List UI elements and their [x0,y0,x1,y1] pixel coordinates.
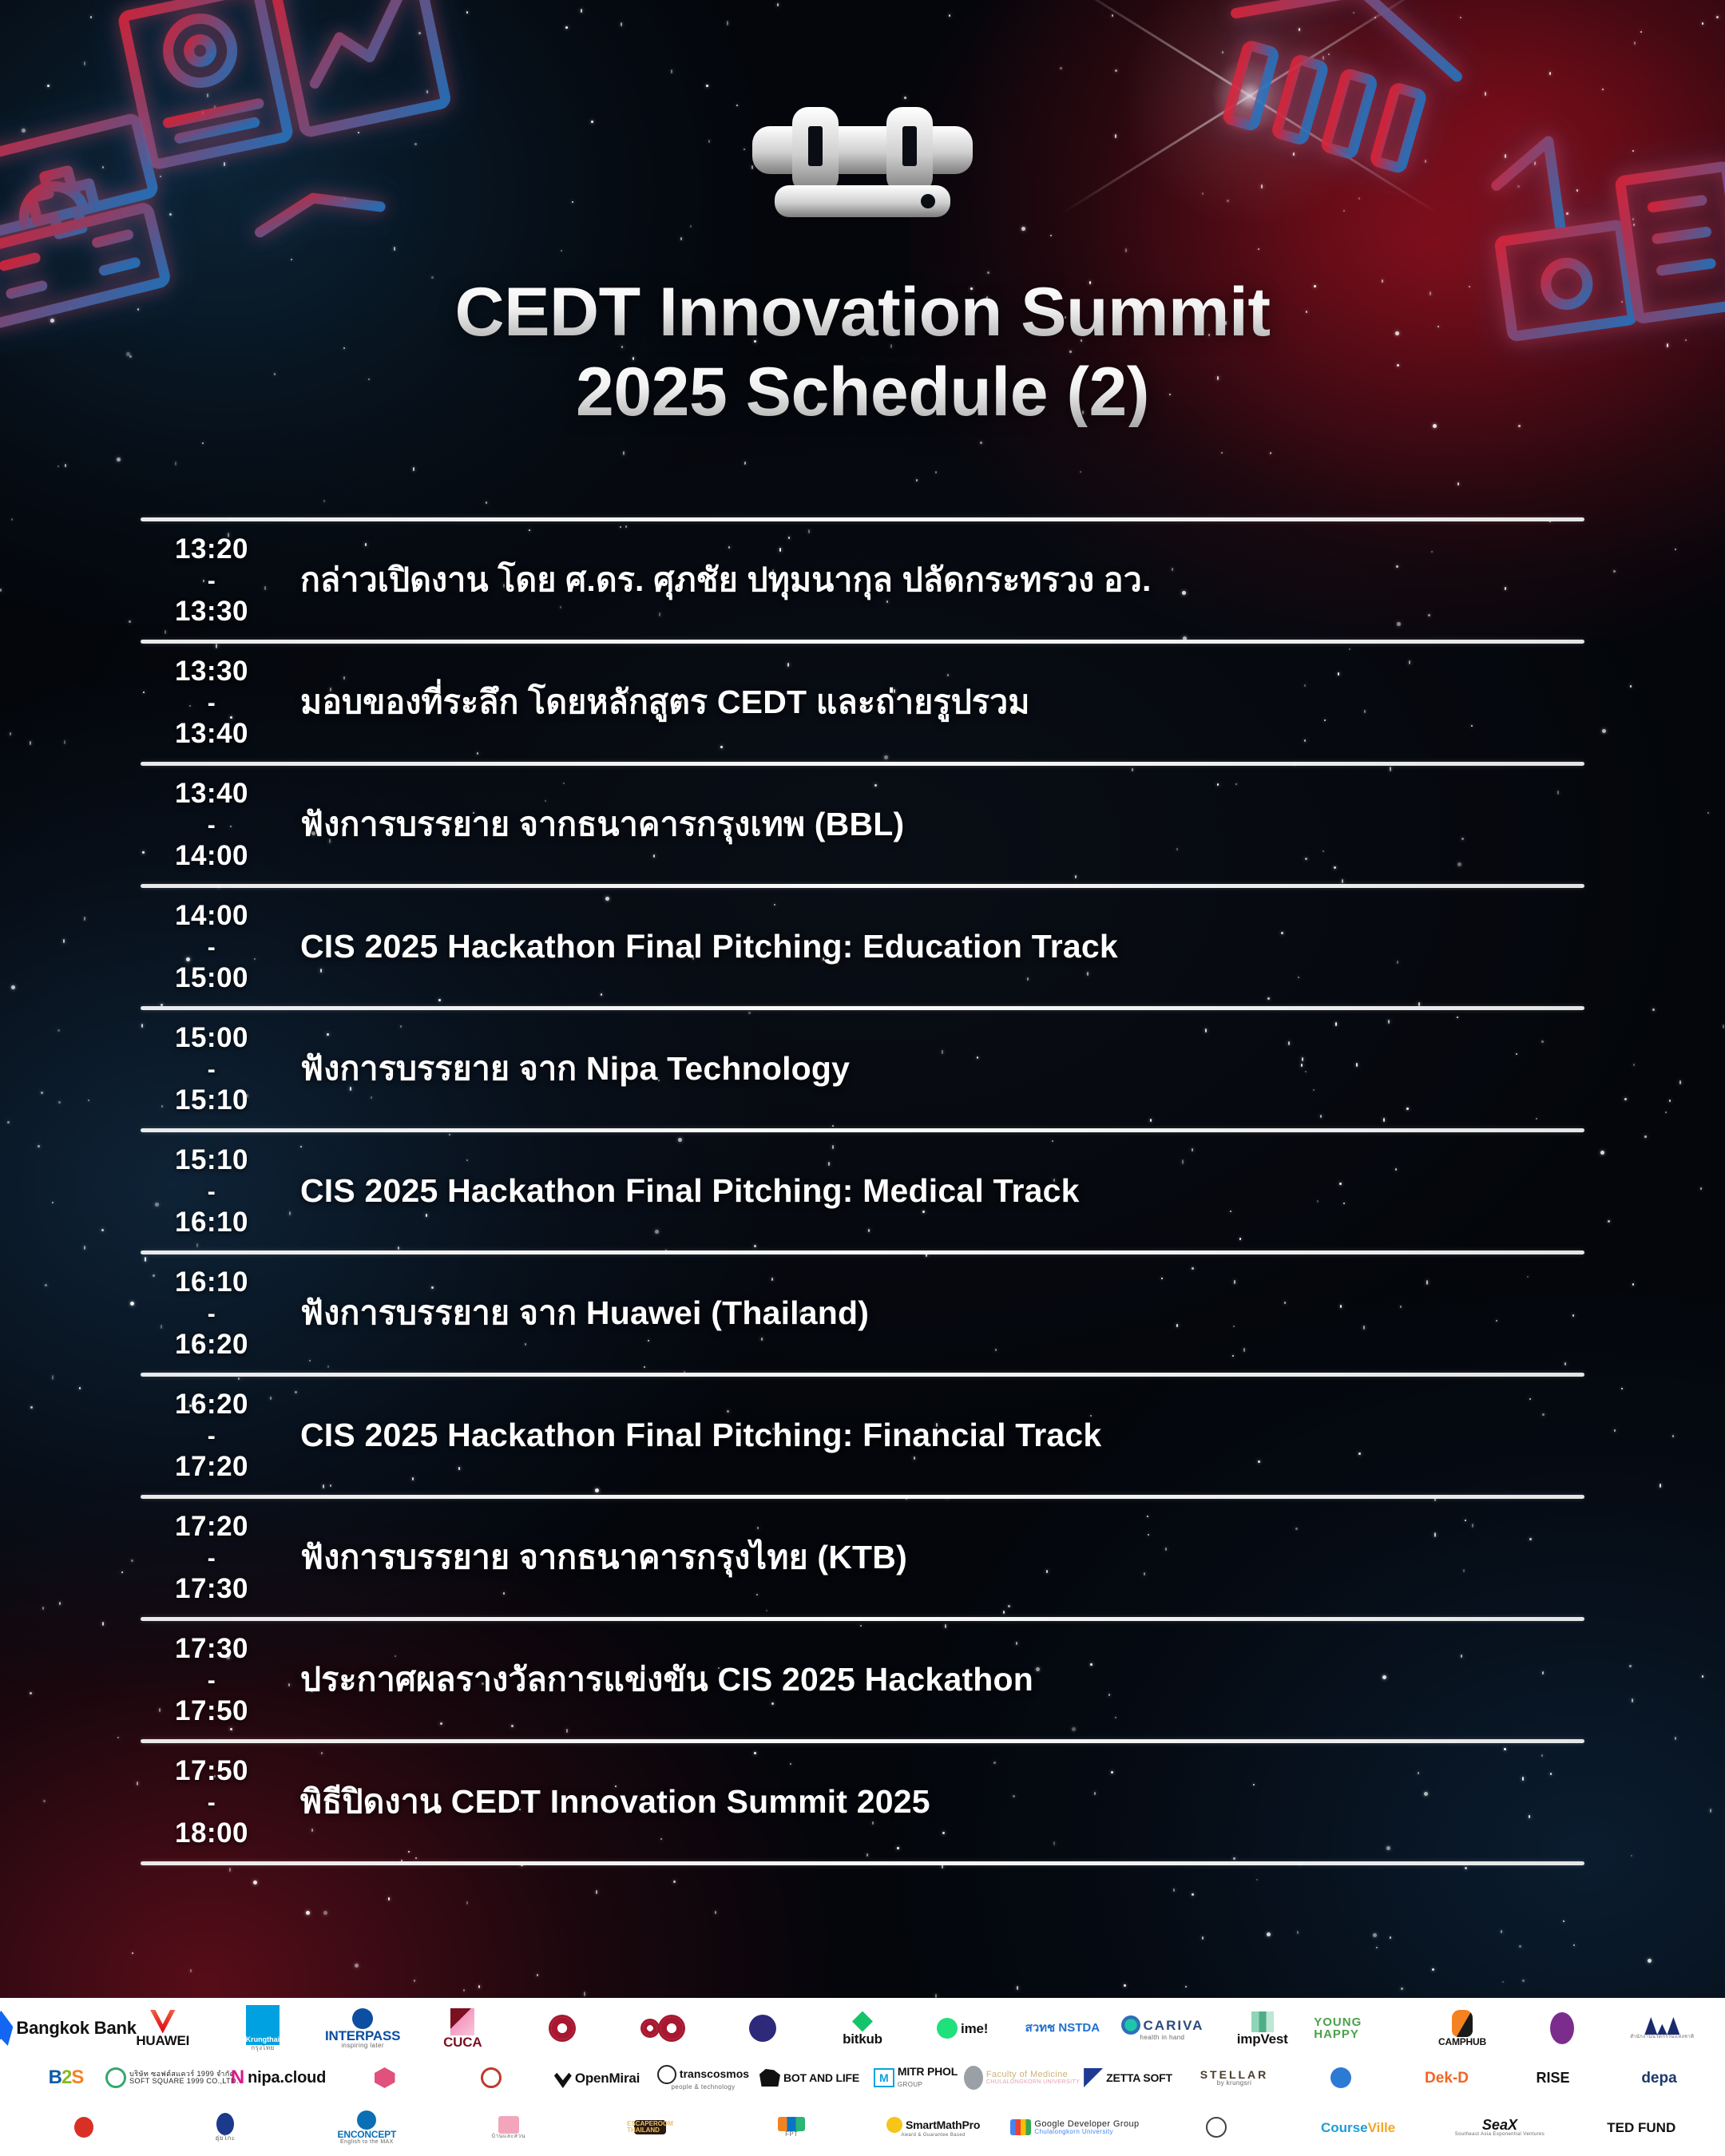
sponsor-bitkub: bitkub [814,2004,910,2052]
schedule-start-time: 14:00 [175,900,248,931]
schedule-time-dash: - [141,1301,283,1327]
tao-kae-noi-icon [74,2117,93,2138]
sponsor-smartmathpro: SmartMathPro Award & Guarantee Based [864,2103,1002,2151]
sponsor-ime: ime! [914,2004,1011,2052]
page-title: CEDT Innovation Summit 2025 Schedule (2) [0,278,1725,427]
schedule-time: 14:00-15:00 [141,898,283,997]
enconcept-icon [357,2110,376,2130]
schedule-time: 13:40-14:00 [141,776,283,874]
sponsor-bot-and-life: BOT AND LIFE [758,2054,861,2102]
sponsor-nstda: สวทช NSTDA [1014,2004,1111,2052]
schedule-start-time: 16:10 [175,1266,248,1298]
sponsor-dek-d: Dek-D [1395,2054,1498,2102]
schedule-row: 17:20-17:30ฟังการบรรยาย จากธนาคารกรุงไทย… [141,1499,1584,1617]
sponsor-hui-go: ฮุ่ยโกะ [156,2103,294,2151]
smartmathpro-icon [886,2117,902,2133]
bangkok-bank-flame-icon [0,2011,13,2046]
fpt-icon [778,2117,805,2131]
sponsor-google-developer-group: Google Developer Group Chulalongkorn Uni… [1005,2103,1144,2151]
schedule-topic: ฟังการบรรยาย จากธนาคารกรุงเทพ (BBL) [283,803,1584,846]
cariva-icon [1121,2015,1140,2035]
schedule-topic: พิธีปิดงาน CEDT Innovation Summit 2025 [283,1781,1584,1823]
schedule-time-dash: - [141,1056,283,1083]
schedule-time-dash: - [141,812,283,838]
bitkub-icon [852,2011,873,2032]
cloud-doodle-icon [1206,2117,1227,2138]
mitr-phol-icon: M [874,2068,894,2087]
schedule-end-time: 15:10 [175,1084,248,1116]
schedule-start-time: 13:30 [175,656,248,687]
schedule-time: 13:30-13:40 [141,654,283,752]
schedule-topic: CIS 2025 Hackathon Final Pitching: Medic… [283,1170,1584,1212]
sponsor-mitr-phol: M MITR PHOL GROUP [864,2054,967,2102]
medicine-seal-icon [964,2066,983,2090]
sponsor-rise: RISE [1501,2054,1604,2102]
schedule-topic: มอบของที่ระลึก โดยหลักสูตร CEDT และถ่ายร… [283,681,1584,723]
interpass-icon [352,2008,373,2029]
poster-canvas: CEDT Innovation Summit 2025 Schedule (2)… [0,0,1725,2156]
schedule-row: 16:20-17:20CIS 2025 Hackathon Final Pitc… [141,1377,1584,1495]
sponsor-enconcept: ENCONCEPT English to the MAX [298,2103,436,2151]
sponsor-row-3: ฮุ่ยโกะ ENCONCEPT English to the MAX บ้า… [10,2103,1715,2151]
pink-cube-icon [375,2067,395,2088]
sponsor-young-happy: YOUNG HAPPY [1314,2004,1410,2052]
schedule-start-time: 16:20 [175,1389,248,1420]
schedule-time-dash: - [141,934,283,961]
schedule-time: 15:10-16:10 [141,1143,283,1241]
sponsor-ted-fund: TED FUND [1572,2103,1711,2151]
nipa-n-icon: N [231,2068,244,2087]
sponsor-tao-kae-noi [14,2103,153,2151]
zetta-soft-icon [1084,2068,1103,2087]
sponsor-engineering-chula [514,2004,611,2052]
schedule-start-time: 13:20 [175,533,248,565]
sponsor-cuca: CUCA [414,2004,511,2052]
schedule-row: 13:20-13:30กล่าวเปิดงาน โดย ศ.ดร. ศุภชัย… [141,521,1584,640]
title-line-1: CEDT Innovation Summit [0,278,1725,348]
schedule-topic: ฟังการบรรยาย จากธนาคารกรุงไทย (KTB) [283,1536,1584,1579]
baan-lae-suan-icon [498,2116,519,2134]
schedule-start-time: 17:30 [175,1633,248,1664]
sponsor-chula-seal [1514,2004,1611,2052]
sponsor-jobfin [714,2004,811,2052]
schedule-time-dash: - [141,1423,283,1449]
schedule-topic: กล่าวเปิดงาน โดย ศ.ดร. ศุภชัย ปทุมนากุล … [283,559,1584,601]
escaperoom-icon: ESCAPEROOM THAILAND [634,2120,666,2134]
schedule-time: 15:00-15:10 [141,1021,283,1119]
schedule-start-time: 17:20 [175,1511,248,1542]
impvest-icon [1251,2011,1274,2032]
schedule-start-time: 15:00 [175,1022,248,1053]
sponsor-blue-bird [1289,2054,1392,2102]
sponsor-stellar: STELLAR by krungsri [1183,2054,1286,2102]
schedule-topic: CIS 2025 Hackathon Final Pitching: Educa… [283,925,1584,968]
schedule-topic: CIS 2025 Hackathon Final Pitching: Finan… [283,1414,1584,1456]
schedule-time: 13:20-13:30 [141,532,283,630]
schedule-time-dash: - [141,1545,283,1571]
schedule-end-time: 17:20 [175,1451,248,1482]
schedule-end-time: 17:50 [175,1695,248,1726]
sponsor-999-gears [614,2004,711,2052]
schedule-end-time: 16:10 [175,1207,248,1238]
schedule-separator [141,1861,1584,1865]
schedule-time-dash: - [141,1179,283,1205]
schedule-row: 14:00-15:00CIS 2025 Hackathon Final Pitc… [141,888,1584,1006]
sponsor-openmirai: OpenMirai [545,2054,648,2102]
sponsor-row-1: Bangkok Bank HUAWEI Krungthai กรุงไทย IN… [10,2004,1715,2052]
schedule-row: 16:10-16:20ฟังการบรรยาย จาก Huawei (Thai… [141,1254,1584,1373]
sponsor-escaperoom-thailand: ESCAPEROOM THAILAND [581,2103,719,2151]
sponsor-faculty-of-medicine: Faculty of Medicine CHULALONGKORN UNIVER… [970,2054,1073,2102]
schedule-time: 17:30-17:50 [141,1631,283,1730]
schedule-topic: ฟังการบรรยาย จาก Huawei (Thailand) [283,1292,1584,1334]
sponsor-huawei: HUAWEI [114,2004,211,2052]
schedule-end-time: 14:00 [175,840,248,871]
hui-go-icon [216,2113,234,2135]
openmirai-icon [554,2067,572,2088]
sponsor-interpass: INTERPASS inspiring later [315,2004,411,2052]
gear-small-icon [643,2021,657,2035]
sponsor-krungthai: Krungthai กรุงไทย [214,2004,311,2052]
schedule-end-time: 13:40 [175,718,248,749]
sponsor-fpt: FPT [723,2103,861,2151]
sponsor-red-ring [439,2054,542,2102]
gdg-icon [1010,2119,1031,2135]
schedule-time-dash: - [141,1789,283,1816]
sponsor-zetta-soft: ZETTA SOFT [1077,2054,1180,2102]
gear-large-icon [660,2017,683,2039]
sponsor-seax: SeaX Southeast Asia Exponential Ventures [1430,2103,1568,2151]
sponsor-nia: สำนักงานนวัตกรรมแห่งชาติ [1614,2004,1711,2052]
krungthai-icon: Krungthai [246,2005,280,2045]
sponsor-nipa-cloud: N nipa.cloud [227,2054,330,2102]
schedule-end-time: 17:30 [175,1573,248,1604]
schedule-start-time: 15:10 [175,1144,248,1175]
sponsor-row-2: B2S บริษัท ซอฟต์สแควร์ 1999 จำกัด SOFT S… [10,2054,1715,2102]
schedule-time: 16:20-17:20 [141,1387,283,1485]
cedt-logo-mark [743,102,982,222]
camphub-backpack-icon [1452,2010,1473,2037]
schedule-end-time: 15:00 [175,962,248,993]
red-ring-icon [481,2067,502,2088]
engineering-gear-icon [551,2017,573,2039]
schedule-row: 13:40-14:00ฟังการบรรยาย จากธนาคารกรุงเทพ… [141,766,1584,884]
sponsor-depa: depa [1608,2054,1711,2102]
chulalongkorn-seal-icon [1550,2012,1574,2044]
schedule-start-time: 17:50 [175,1755,248,1786]
blue-bird-icon [1330,2067,1351,2088]
title-line-2: 2025 Schedule (2) [0,358,1725,428]
sponsor-b2s: B2S [14,2054,117,2102]
sponsor-pink-cube [333,2054,436,2102]
schedule-row: 15:00-15:10ฟังการบรรยาย จาก Nipa Technol… [141,1010,1584,1128]
jobfin-icon [749,2015,776,2042]
sponsor-baan-lae-suan: บ้านและสวน [439,2103,577,2151]
schedule-time: 17:50-18:00 [141,1754,283,1852]
sponsor-courseville: CourseVille [1289,2103,1427,2151]
huawei-flower-icon [147,2010,179,2034]
transcosmos-globe-icon [657,2065,676,2084]
schedule-end-time: 16:20 [175,1329,248,1360]
schedule-end-time: 13:30 [175,596,248,627]
schedule-topic: ประกาศผลรางวัลการแข่งขัน CIS 2025 Hackat… [283,1659,1584,1701]
schedule-row: 17:30-17:50ประกาศผลรางวัลการแข่งขัน CIS … [141,1621,1584,1739]
sponsor-bangkok-bank: Bangkok Bank [14,2004,111,2052]
schedule-table: 13:20-13:30กล่าวเปิดงาน โดย ศ.ดร. ศุภชัย… [141,517,1584,1865]
schedule-row: 17:50-18:00พิธีปิดงาน CEDT Innovation Su… [141,1743,1584,1861]
sponsor-cariva: CARIVA health in hand [1114,2004,1211,2052]
sponsor-cloud-doodle [1148,2103,1286,2151]
schedule-time: 16:10-16:20 [141,1265,283,1363]
schedule-time-dash: - [141,690,283,716]
sponsor-impvest: impVest [1214,2004,1311,2052]
schedule-row: 13:30-13:40มอบของที่ระลึก โดยหลักสูตร CE… [141,644,1584,762]
schedule-topic: ฟังการบรรยาย จาก Nipa Technology [283,1048,1584,1090]
schedule-end-time: 18:00 [175,1817,248,1849]
schedule-time-dash: - [141,1667,283,1694]
schedule-time: 17:20-17:30 [141,1509,283,1607]
sponsor-camphub: CAMPHUB [1414,2004,1510,2052]
schedule-time-dash: - [141,568,283,594]
schedule-start-time: 13:40 [175,778,248,809]
sponsor-bar: Bangkok Bank HUAWEI Krungthai กรุงไทย IN… [0,1998,1725,2156]
nia-icon [1644,2017,1679,2035]
ime-icon [937,2018,958,2039]
bot-and-life-icon [759,2069,780,2087]
soft-square-icon [105,2067,126,2088]
schedule-row: 15:10-16:10CIS 2025 Hackathon Final Pitc… [141,1132,1584,1250]
sponsor-soft-square: บริษัท ซอฟต์สแควร์ 1999 จำกัด SOFT SQUAR… [121,2054,224,2102]
sponsor-transcosmos: transcosmos people & technology [652,2054,755,2102]
cuca-icon [450,2008,474,2035]
